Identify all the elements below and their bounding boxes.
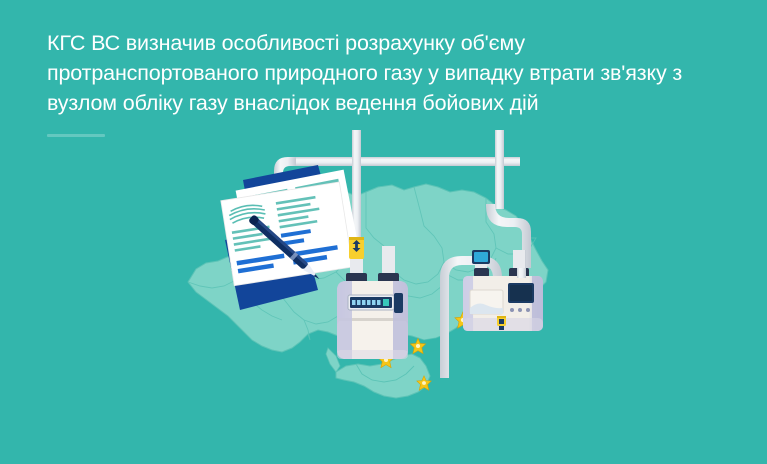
heading-block: КГС ВС визначив особливості розрахунку о… (47, 28, 737, 137)
valve-yellow-left (349, 237, 364, 259)
infographic-page: КГС ВС визначив особливості розрахунку о… (0, 0, 767, 464)
page-title: КГС ВС визначив особливості розрахунку о… (47, 28, 737, 118)
pipe-connectors-front (517, 268, 526, 278)
document-paper-front (221, 182, 353, 286)
illustration (0, 130, 767, 464)
